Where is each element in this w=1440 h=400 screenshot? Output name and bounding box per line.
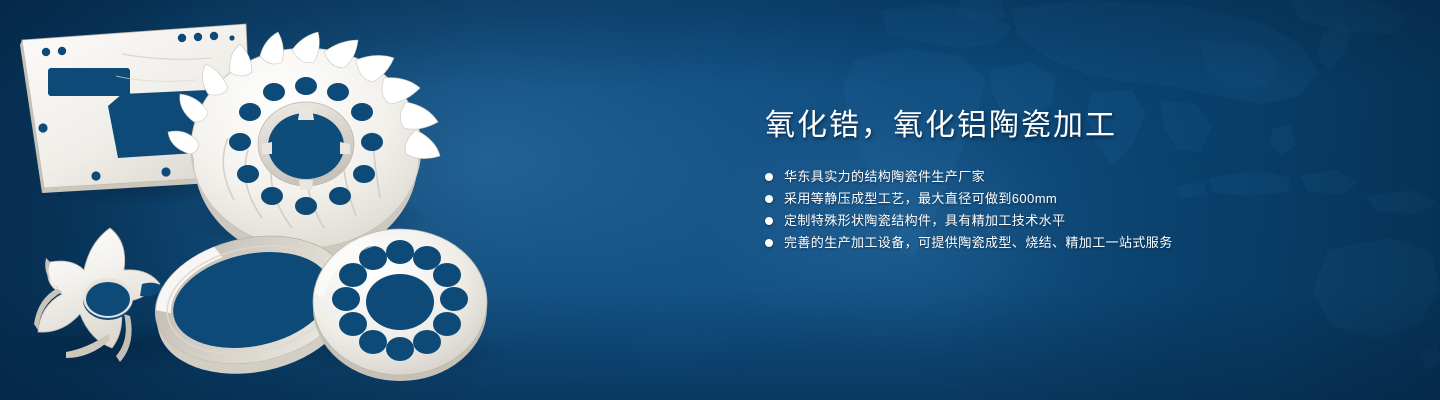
banner-text-block: 氧化锆，氧化铝陶瓷加工 华东具实力的结构陶瓷件生产厂家 采用等静压成型工艺，最大…	[765, 104, 1365, 254]
bullet-dot-icon	[765, 217, 773, 225]
banner-feature-list: 华东具实力的结构陶瓷件生产厂家 采用等静压成型工艺，最大直径可做到600mm 定…	[765, 166, 1365, 254]
list-item-label: 采用等静压成型工艺，最大直径可做到600mm	[784, 188, 1057, 210]
list-item-label: 华东具实力的结构陶瓷件生产厂家	[784, 166, 985, 188]
bullet-dot-icon	[765, 173, 773, 181]
list-item: 定制特殊形状陶瓷结构件，具有精加工技术水平	[765, 210, 1365, 232]
bullet-dot-icon	[765, 239, 773, 247]
list-item-label: 完善的生产加工设备，可提供陶瓷成型、烧结、精加工一站式服务	[784, 232, 1173, 254]
list-item: 采用等静压成型工艺，最大直径可做到600mm	[765, 188, 1365, 210]
list-item-label: 定制特殊形状陶瓷结构件，具有精加工技术水平	[784, 210, 1065, 232]
bullet-dot-icon	[765, 195, 773, 203]
list-item: 完善的生产加工设备，可提供陶瓷成型、烧结、精加工一站式服务	[765, 232, 1365, 254]
banner-headline: 氧化锆，氧化铝陶瓷加工	[765, 104, 1365, 148]
ceramic-processing-banner: 氧化锆，氧化铝陶瓷加工 华东具实力的结构陶瓷件生产厂家 采用等静压成型工艺，最大…	[0, 0, 1440, 400]
list-item: 华东具实力的结构陶瓷件生产厂家	[765, 166, 1365, 188]
